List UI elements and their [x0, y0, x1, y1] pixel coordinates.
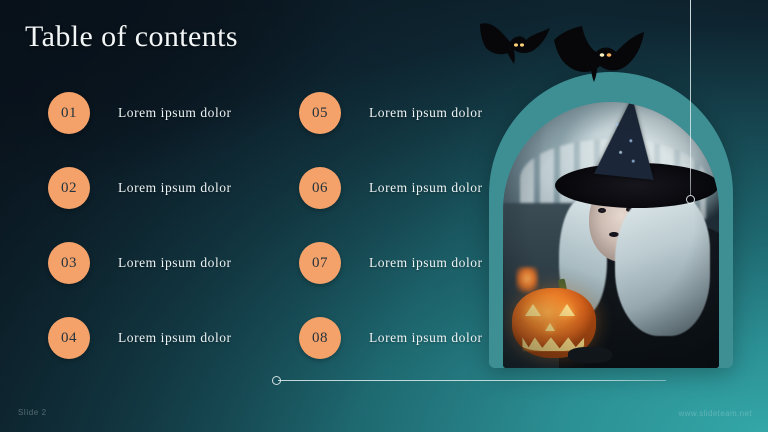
toc-number-badge: 01 — [48, 92, 90, 134]
toc-item-02[interactable]: 02 Lorem ipsum dolor — [48, 167, 232, 209]
table-of-contents-list: 01 Lorem ipsum dolor 02 Lorem ipsum dolo… — [0, 0, 500, 432]
toc-item-label: Lorem ipsum dolor — [369, 180, 483, 196]
toc-number-badge: 08 — [299, 317, 341, 359]
toc-number-badge: 02 — [48, 167, 90, 209]
toc-item-label: Lorem ipsum dolor — [118, 105, 232, 121]
toc-number-badge: 04 — [48, 317, 90, 359]
witch-photo — [503, 102, 719, 368]
toc-item-06[interactable]: 06 Lorem ipsum dolor — [299, 167, 483, 209]
arch-photo-frame — [489, 72, 733, 368]
toc-item-label: Lorem ipsum dolor — [369, 330, 483, 346]
toc-number-badge: 05 — [299, 92, 341, 134]
toc-number-badge: 07 — [299, 242, 341, 284]
toc-item-08[interactable]: 08 Lorem ipsum dolor — [299, 317, 483, 359]
vertical-line-end-dot — [686, 195, 695, 204]
toc-item-label: Lorem ipsum dolor — [118, 180, 232, 196]
slide-canvas: Table of contents 01 Lorem ipsum dolor 0… — [0, 0, 768, 432]
toc-item-03[interactable]: 03 Lorem ipsum dolor — [48, 242, 232, 284]
bat-right-icon — [548, 24, 652, 96]
toc-number-badge: 03 — [48, 242, 90, 284]
toc-item-label: Lorem ipsum dolor — [118, 330, 232, 346]
toc-number-badge: 06 — [299, 167, 341, 209]
toc-item-05[interactable]: 05 Lorem ipsum dolor — [299, 92, 483, 134]
photo-vignette — [503, 102, 719, 368]
toc-item-07[interactable]: 07 Lorem ipsum dolor — [299, 242, 483, 284]
toc-item-label: Lorem ipsum dolor — [369, 105, 483, 121]
toc-item-label: Lorem ipsum dolor — [118, 255, 232, 271]
vertical-accent-line — [690, 0, 691, 196]
toc-item-01[interactable]: 01 Lorem ipsum dolor — [48, 92, 232, 134]
toc-item-04[interactable]: 04 Lorem ipsum dolor — [48, 317, 232, 359]
slide-number: Slide 2 — [18, 408, 47, 417]
watermark: www.slideteam.net — [679, 409, 753, 418]
toc-item-label: Lorem ipsum dolor — [369, 255, 483, 271]
